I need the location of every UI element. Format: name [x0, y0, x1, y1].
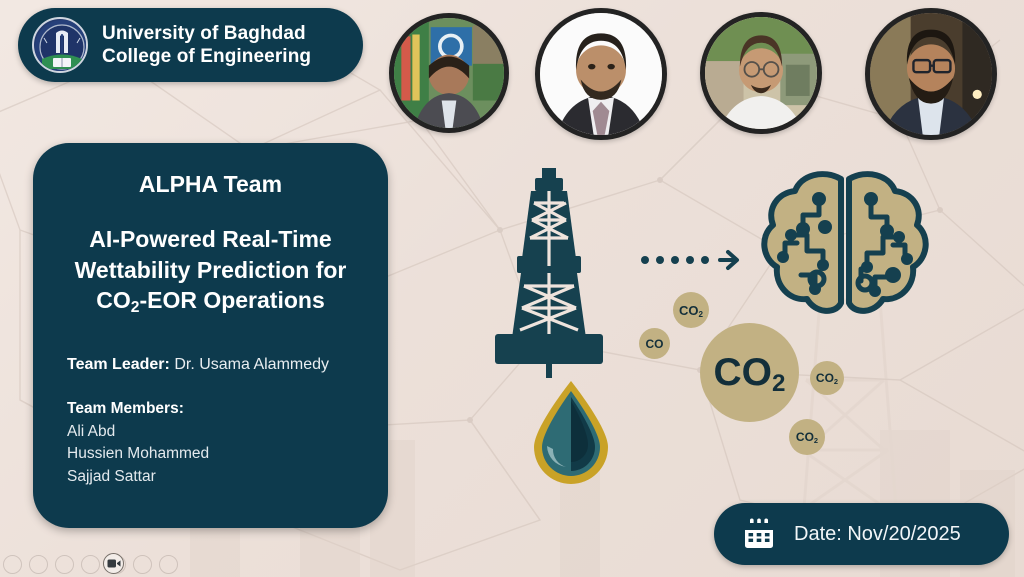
co-bubble-small: CO	[639, 328, 670, 359]
emoji-icon[interactable]	[81, 555, 100, 574]
arrow-head-icon	[716, 247, 742, 273]
team-member-1: Ali Abd	[59, 421, 362, 443]
team-leader-row: Team Leader: Dr. Usama Alammedy	[59, 356, 362, 374]
project-title-line-3: CO2-EOR Operations	[59, 285, 362, 316]
date-text: Date: Nov/20/2025	[794, 523, 961, 546]
arrow-dot	[686, 256, 694, 264]
volume-icon[interactable]	[29, 555, 48, 574]
arrow-dot	[656, 256, 664, 264]
bubble-subscript: 2	[834, 377, 838, 386]
portrait-1	[389, 13, 509, 133]
camera-icon	[107, 558, 121, 569]
co2-bubble-small-1: CO2	[673, 292, 709, 328]
bubble-text: CO	[714, 351, 773, 394]
bubble-text: CO	[679, 303, 699, 318]
co2-subscript: 2	[131, 299, 140, 316]
oil-droplet-icon	[528, 379, 614, 490]
university-emblem-icon	[32, 17, 88, 73]
institution-line-2: College of Engineering	[102, 45, 311, 68]
co2-bubble-main: CO2	[700, 323, 799, 422]
project-title-line-1: AI-Powered Real-Time	[59, 224, 362, 255]
university-logo-banner: University of Baghdad College of Enginee…	[18, 8, 363, 82]
presentation-slide: University of Baghdad College of Enginee…	[0, 0, 1024, 577]
project-title: AI-Powered Real-Time Wettability Predict…	[59, 224, 362, 316]
calendar-icon	[742, 517, 776, 551]
bubble-subscript: 2	[814, 436, 818, 445]
record-icon[interactable]	[133, 555, 152, 574]
eor-suffix: -EOR Operations	[139, 287, 324, 313]
bubble-subscript: 2	[772, 370, 785, 397]
institution-line-1: University of Baghdad	[102, 22, 311, 45]
co2-prefix: CO	[96, 287, 131, 313]
team-member-3: Sajjad Sattar	[59, 466, 362, 488]
co2-bubble-small-2: CO2	[810, 361, 844, 395]
team-member-2: Hussien Mohammed	[59, 443, 362, 465]
oil-derrick-icon	[487, 168, 611, 383]
team-members-label: Team Members:	[59, 400, 362, 418]
camera-toggle-button[interactable]	[103, 553, 124, 574]
team-leader-name: Dr. Usama Alammedy	[174, 356, 329, 373]
team-name: ALPHA Team	[59, 171, 362, 198]
mic-icon[interactable]	[3, 555, 22, 574]
portrait-2	[535, 8, 667, 140]
university-name: University of Baghdad College of Enginee…	[102, 22, 311, 68]
bubble-subscript: 2	[699, 310, 703, 319]
end-call-icon[interactable]	[159, 555, 178, 574]
date-badge: Date: Nov/20/2025	[714, 503, 1009, 565]
title-card: ALPHA Team AI-Powered Real-Time Wettabil…	[33, 143, 388, 528]
bubble-text: CO	[796, 430, 814, 444]
bubble-text: CO	[816, 371, 834, 385]
dotted-arrow-icon	[641, 247, 742, 273]
project-title-line-2: Wettability Prediction for	[59, 255, 362, 286]
co2-bubble-small-3: CO2	[789, 419, 825, 455]
arrow-dot	[641, 256, 649, 264]
participants-icon[interactable]	[55, 555, 74, 574]
ai-brain-circuit-icon	[757, 165, 933, 326]
bubble-text: CO	[646, 337, 664, 351]
arrow-dot	[671, 256, 679, 264]
portrait-3	[700, 12, 822, 134]
team-leader-label: Team Leader:	[67, 356, 170, 373]
arrow-dot	[701, 256, 709, 264]
portrait-4	[865, 8, 997, 140]
meeting-toolbar[interactable]	[0, 551, 178, 577]
